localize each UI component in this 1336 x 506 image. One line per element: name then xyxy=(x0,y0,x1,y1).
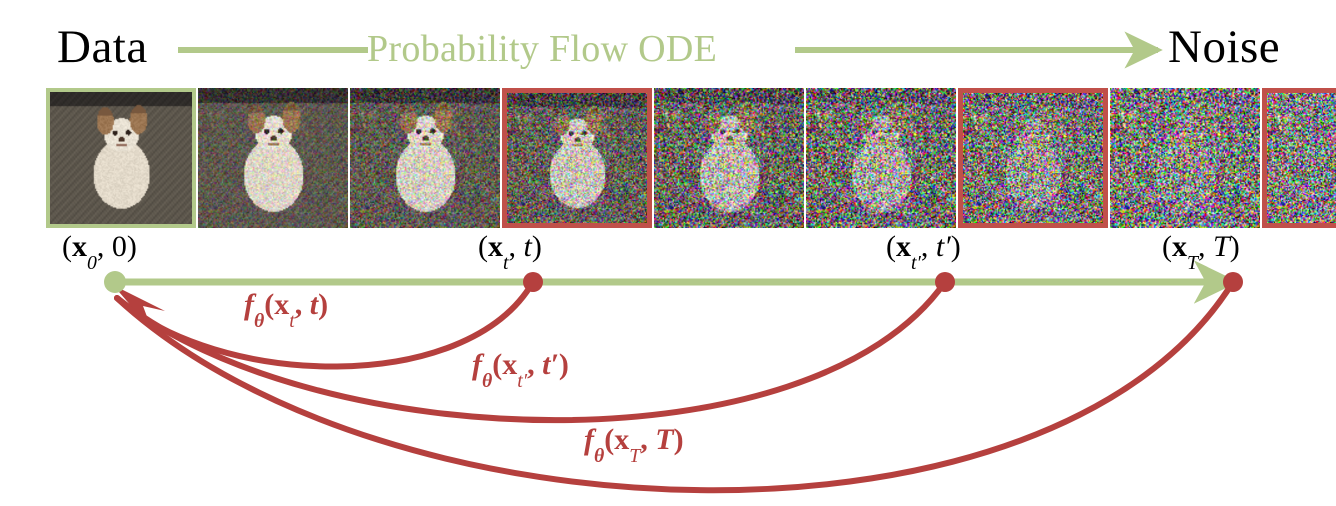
frame-4 xyxy=(654,88,804,228)
state-x0: (x0, 0) xyxy=(62,232,137,262)
frame-7 xyxy=(1110,88,1260,228)
frame-2-image xyxy=(350,88,500,228)
frame-1-image xyxy=(198,88,348,228)
fn-label-xtp: fθ(xt′, t′) xyxy=(472,350,569,380)
probability-flow-ode-label: Probability Flow ODE xyxy=(367,30,717,68)
frame-5-image xyxy=(806,88,956,228)
frame-xt-image xyxy=(507,93,647,223)
frame-4-image xyxy=(654,88,804,228)
figure-canvas: Data Probability Flow ODE Noise (x0, 0)(… xyxy=(0,0,1336,506)
frame-7-image xyxy=(1110,88,1260,228)
frame-x0 xyxy=(46,88,196,228)
frame-xT-image xyxy=(1267,93,1336,223)
frame-xtp-image xyxy=(963,93,1103,223)
state-xt: (xt, t) xyxy=(478,232,542,262)
frame-xtp xyxy=(958,88,1108,228)
noise-label: Noise xyxy=(1168,24,1280,71)
dot-xt xyxy=(523,272,543,292)
dot-xtp xyxy=(935,272,955,292)
dot-x0 xyxy=(104,271,126,293)
state-xT: (xT, T) xyxy=(1162,232,1240,262)
frame-1 xyxy=(198,88,348,228)
frame-xt xyxy=(502,88,652,228)
frame-2 xyxy=(350,88,500,228)
frame-5 xyxy=(806,88,956,228)
dot-xT xyxy=(1223,272,1243,292)
frame-xT xyxy=(1262,88,1336,228)
fn-label-xT: fθ(xT, T) xyxy=(584,425,684,455)
fn-label-xt: fθ(xt, t) xyxy=(244,290,328,320)
state-xtp: (xt′, t′) xyxy=(886,232,961,262)
fn-curve-arrowhead xyxy=(113,285,165,330)
frame-x0-image xyxy=(50,92,192,224)
data-label: Data xyxy=(57,24,148,71)
